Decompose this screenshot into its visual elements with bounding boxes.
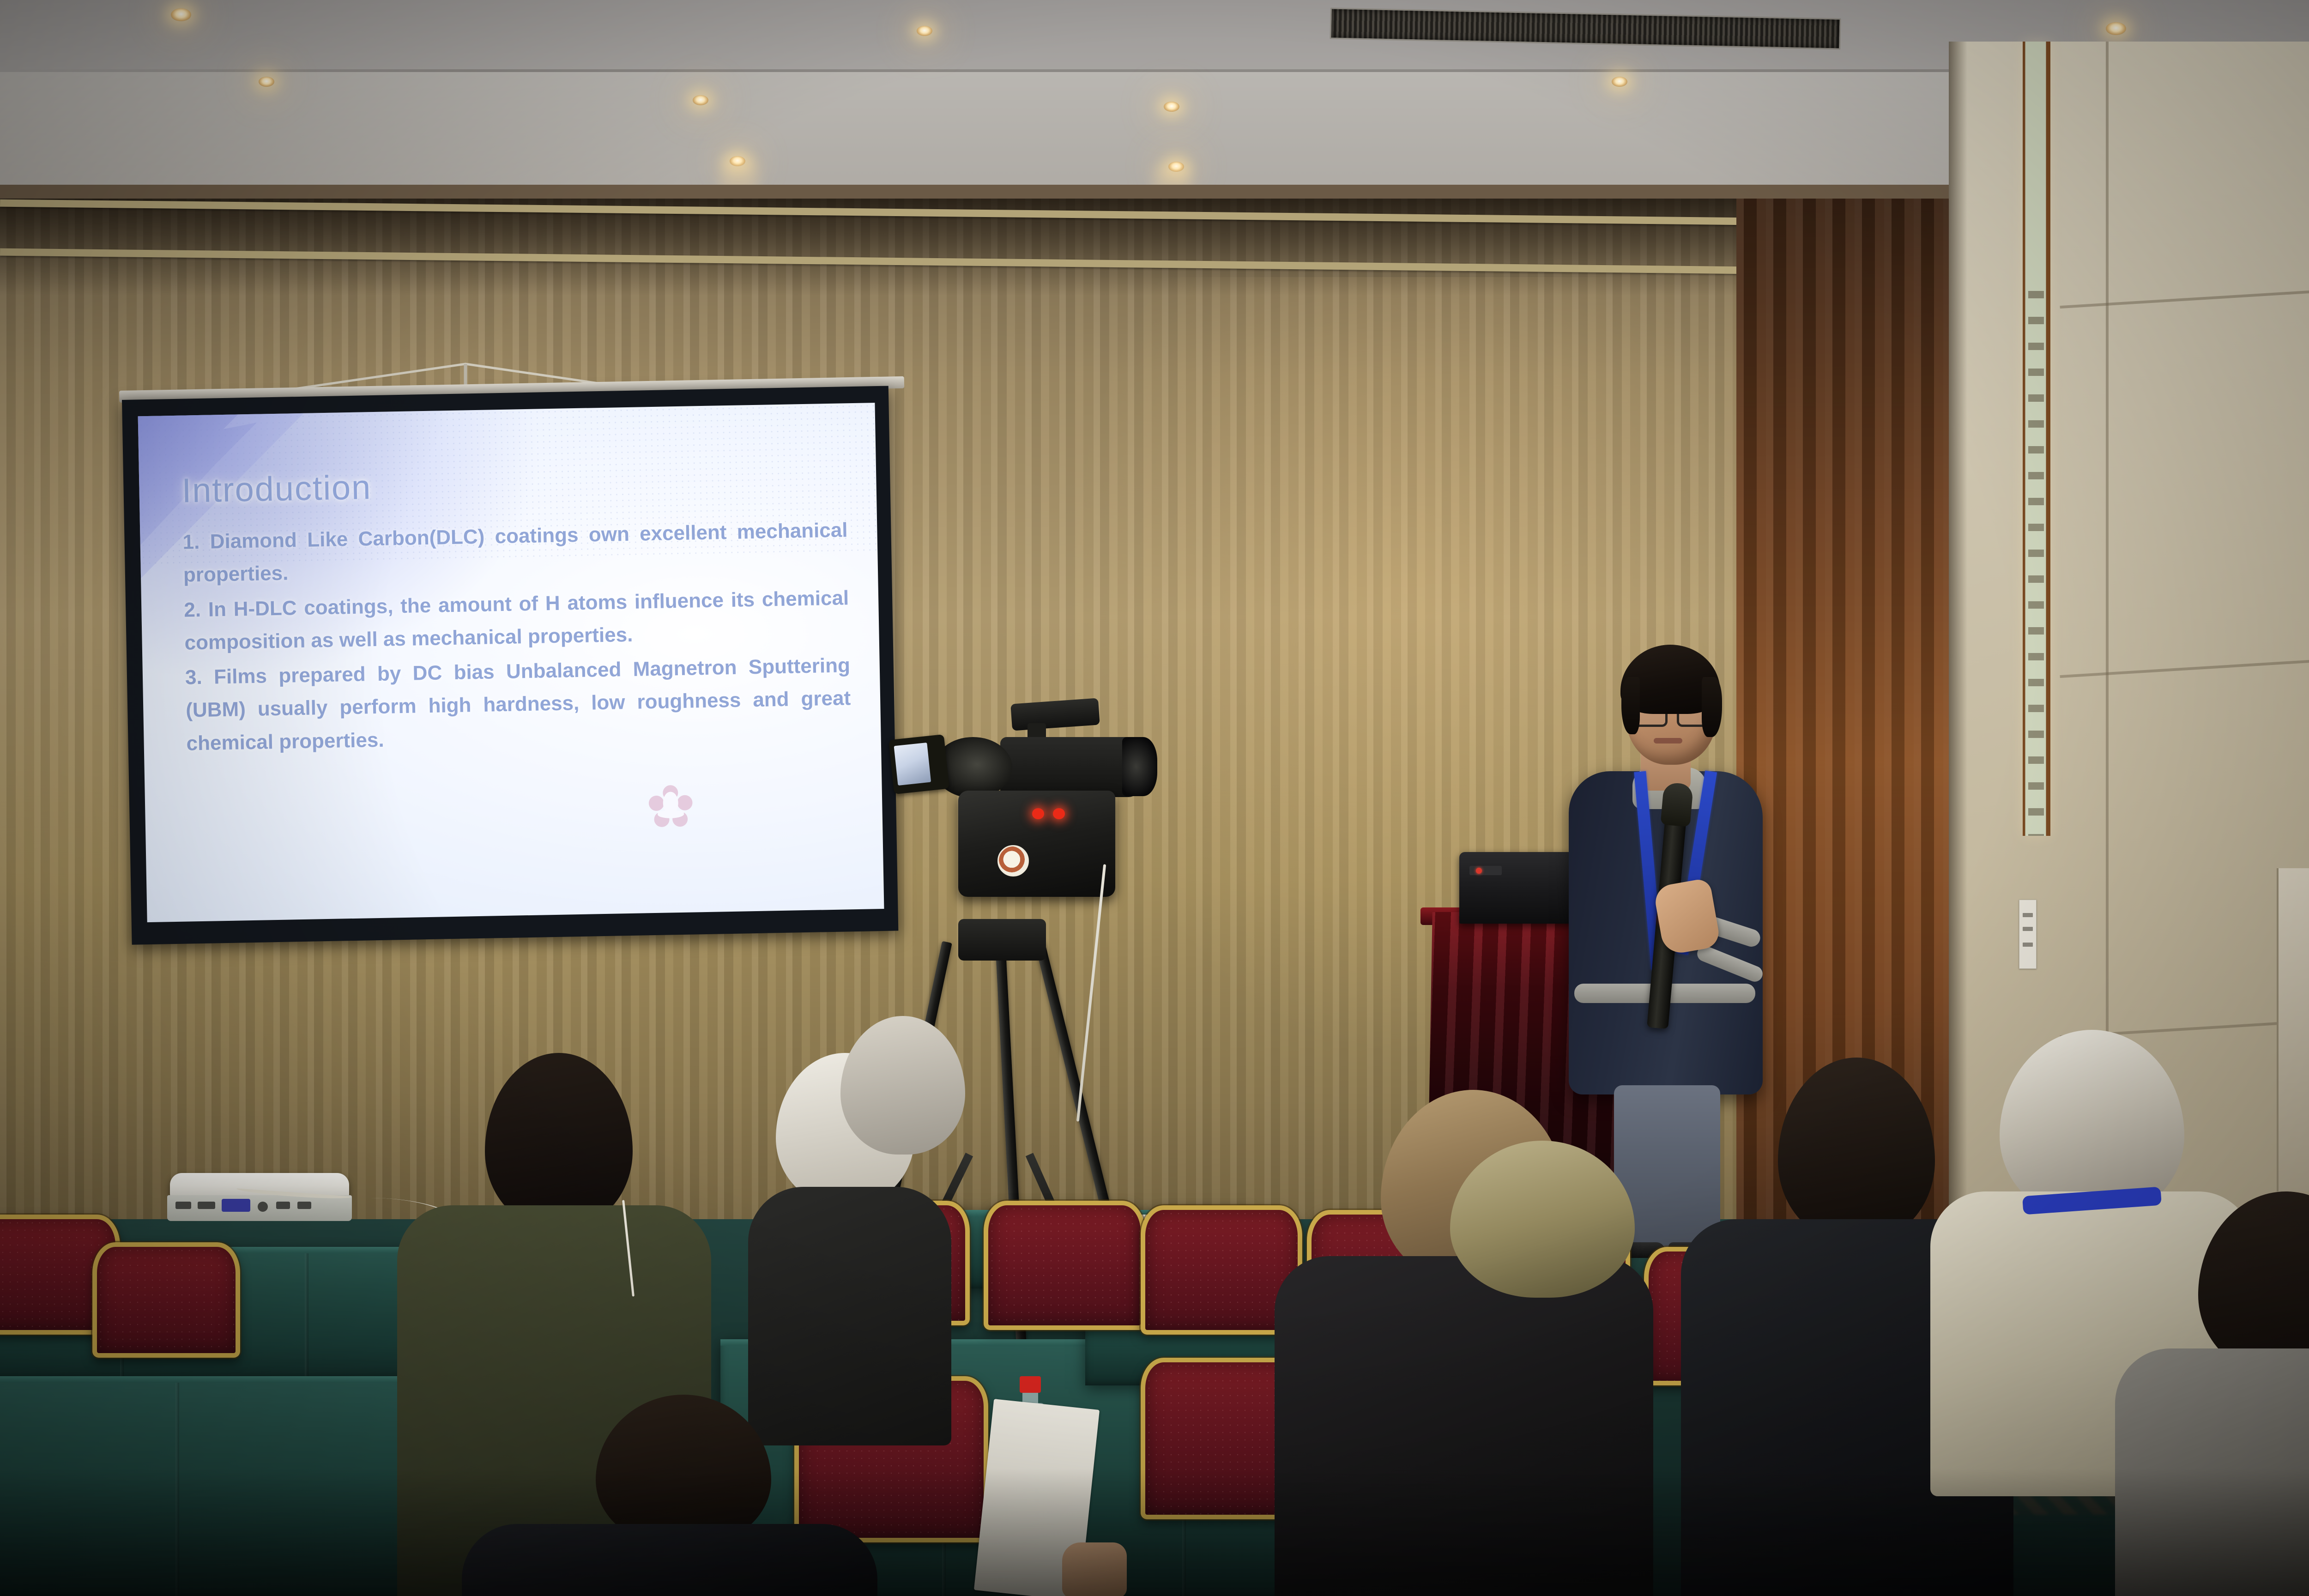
ceiling-downlight — [171, 8, 191, 21]
projector-port — [258, 1202, 268, 1212]
presenter-hair-right-side — [1702, 677, 1722, 737]
audience-head — [1778, 1058, 1935, 1242]
banquet-chair[interactable] — [92, 1242, 231, 1348]
projection-screen: Introduction 1. Diamond Like Carbon(DLC)… — [119, 391, 904, 996]
projected-slide: Introduction 1. Diamond Like Carbon(DLC)… — [138, 403, 884, 922]
video-projector[interactable] — [167, 1173, 352, 1222]
ceiling-downlight — [259, 77, 274, 87]
conference-room-photo: Introduction 1. Diamond Like Carbon(DLC)… — [0, 0, 2309, 1596]
tablecloth-fold — [175, 1383, 179, 1596]
projector-vga-port[interactable] — [222, 1199, 250, 1212]
laptop-brand-dot-icon — [1476, 868, 1482, 874]
audience-torso — [2115, 1348, 2309, 1596]
screen-black-border: Introduction 1. Diamond Like Carbon(DLC)… — [122, 386, 898, 945]
wall-sign-plaque — [2019, 900, 2037, 969]
presenter-mouth — [1654, 738, 1682, 744]
ceiling-downlight — [1164, 102, 1179, 112]
chair-back — [984, 1201, 1145, 1330]
camera-record-led-icon — [1032, 808, 1044, 819]
presenter-hair-left-side — [1621, 677, 1640, 734]
slide-bullet-1: 1. Diamond Like Carbon(DLC) coatings own… — [182, 514, 848, 592]
audience-head — [485, 1053, 633, 1228]
camera-shotgun-microphone — [1010, 698, 1100, 731]
banquet-chair[interactable] — [1141, 1205, 1293, 1325]
bottle-cap — [1020, 1376, 1041, 1393]
slide-content: Introduction 1. Diamond Like Carbon(DLC)… — [181, 459, 852, 762]
audience-head — [1450, 1141, 1635, 1298]
projector-port — [276, 1202, 290, 1209]
chair-fabric-texture — [97, 1247, 236, 1353]
audience-member — [2115, 1191, 2309, 1596]
audience-head — [840, 1016, 965, 1155]
camera-tally-led-icon — [1053, 808, 1065, 819]
ceiling-downlight — [2106, 22, 2126, 35]
chair-fabric-texture — [988, 1205, 1141, 1325]
video-camcorder[interactable] — [873, 693, 1159, 933]
audience-torso — [1275, 1256, 1653, 1596]
tablecloth-fold — [305, 1253, 308, 1385]
chair-back — [92, 1242, 240, 1358]
camera-lens-barrel — [1000, 737, 1139, 797]
projector-port — [198, 1202, 215, 1209]
audience-torso — [462, 1524, 877, 1596]
audience-member — [462, 1395, 877, 1596]
slide-bullet-3: 3. Films prepared by DC bias Unbalanced … — [185, 649, 852, 760]
ceiling-downlight — [1612, 77, 1627, 87]
camera-body — [958, 791, 1115, 897]
plum-blossom-logo-icon — [643, 780, 698, 832]
holding-hand — [1062, 1542, 1127, 1596]
ceiling-downlight — [917, 26, 932, 36]
slide-bullet-2: 2. In H-DLC coatings, the amount of H at… — [184, 581, 850, 659]
banquet-chair[interactable] — [984, 1201, 1136, 1321]
wall-decorative-light-strip — [2023, 42, 2050, 836]
laptop-logo-plate — [1469, 866, 1502, 875]
camera-lens-hood — [1122, 737, 1157, 796]
camera-flip-lcd[interactable] — [889, 734, 949, 794]
microphone-capsule — [1661, 782, 1694, 827]
audience-member — [822, 1016, 988, 1293]
audience-member — [1450, 1141, 1649, 1307]
projector-port — [175, 1202, 191, 1209]
camera-lcd-preview — [894, 743, 931, 786]
camera-logo-sticker-icon — [997, 845, 1029, 877]
ceiling-downlight — [693, 95, 708, 105]
side-counter — [2277, 868, 2309, 1191]
